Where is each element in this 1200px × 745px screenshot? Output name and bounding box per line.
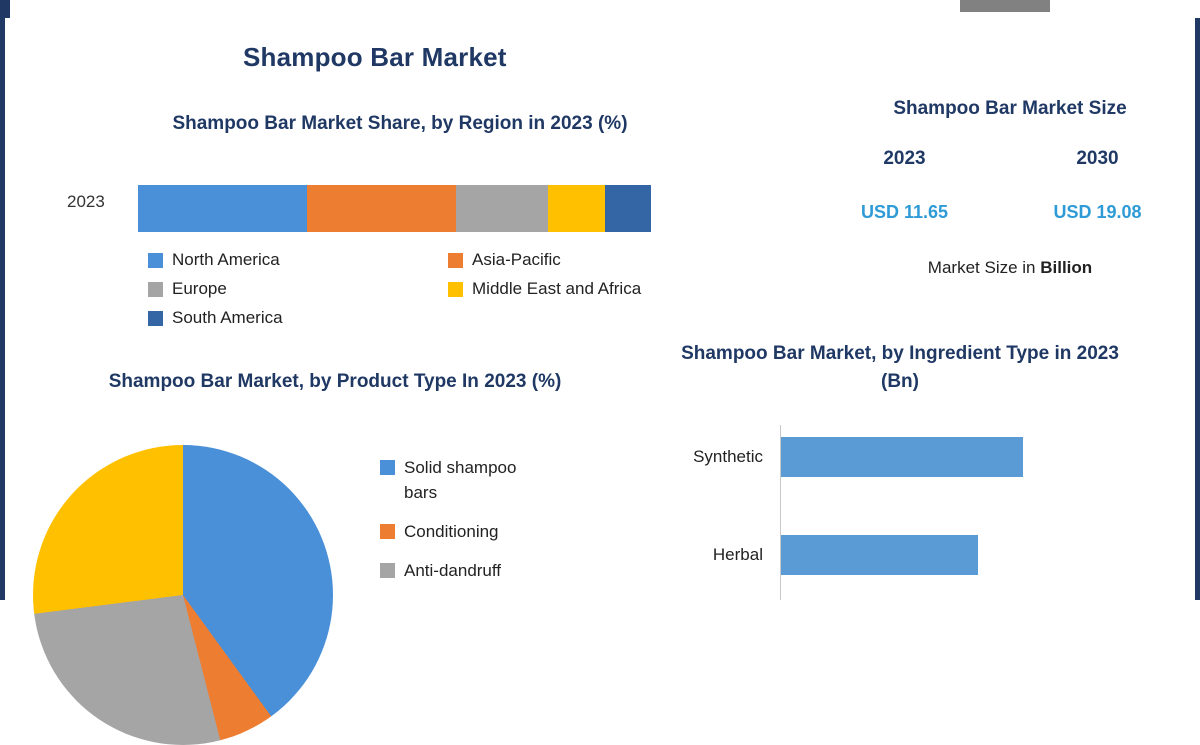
market-size-footnote-prefix: Market Size in	[928, 258, 1040, 277]
legend-swatch-icon	[148, 311, 163, 326]
market-size-year-2023: 2023	[847, 148, 962, 170]
region-legend-item: Middle East and Africa	[448, 279, 708, 299]
region-legend-label: North America	[172, 250, 280, 270]
legend-swatch-icon	[380, 563, 395, 578]
region-segment-asia-pacific	[307, 185, 456, 232]
region-segment-north-america	[138, 185, 307, 232]
region-share-stacked-bar	[138, 185, 651, 232]
market-size-footnote-unit: Billion	[1040, 258, 1092, 277]
market-size-footnote: Market Size in Billion	[845, 258, 1175, 278]
region-segment-europe	[456, 185, 548, 232]
product-type-legend-item: Solid shampoo bars	[380, 455, 680, 505]
infographic-page: Shampoo Bar Market Shampoo Bar Market Sh…	[0, 0, 1200, 600]
ingredient-category-label: Herbal	[665, 545, 773, 565]
region-legend-label: Middle East and Africa	[472, 279, 641, 299]
region-legend-item: North America	[148, 250, 448, 270]
ingredient-type-bar-chart: SyntheticHerbal	[665, 425, 1125, 600]
region-share-legend: North AmericaAsia-PacificEuropeMiddle Ea…	[148, 250, 708, 328]
legend-swatch-icon	[148, 253, 163, 268]
ingredient-bar-row: Synthetic	[665, 437, 1023, 477]
legend-swatch-icon	[448, 253, 463, 268]
legend-swatch-icon	[148, 282, 163, 297]
ingredient-bar	[781, 535, 978, 575]
region-share-axis-label: 2023	[67, 192, 105, 212]
region-segment-middle-east-and-africa	[548, 185, 604, 232]
ingredient-bar-row: Herbal	[665, 535, 978, 575]
product-type-legend-label: Anti-dandruff	[404, 558, 501, 583]
ingredient-type-title: Shampoo Bar Market, by Ingredient Type i…	[665, 340, 1135, 396]
ingredient-category-label: Synthetic	[665, 447, 773, 467]
pie-slices	[33, 445, 333, 745]
region-legend-item: Europe	[148, 279, 448, 299]
page-title: Shampoo Bar Market	[243, 42, 507, 73]
region-legend-item: South America	[148, 308, 448, 328]
left-accent-bar	[5, 0, 10, 18]
legend-swatch-icon	[448, 282, 463, 297]
region-share-title: Shampoo Bar Market Share, by Region in 2…	[140, 110, 660, 138]
region-legend-label: Europe	[172, 279, 227, 299]
region-legend-item: Asia-Pacific	[448, 250, 708, 270]
region-legend-label: South America	[172, 308, 283, 328]
region-legend-label: Asia-Pacific	[472, 250, 561, 270]
market-size-year-2030: 2030	[1040, 148, 1155, 170]
product-type-legend-item: Anti-dandruff	[380, 558, 680, 583]
market-size-value-2023: USD 11.65	[837, 202, 972, 223]
market-size-title: Shampoo Bar Market Size	[835, 98, 1185, 120]
market-size-value-2030: USD 19.08	[1030, 202, 1165, 223]
product-type-legend-label: Conditioning	[404, 519, 499, 544]
region-segment-south-america	[605, 185, 651, 232]
company-logo	[960, 0, 1050, 12]
product-type-legend-item: Conditioning	[380, 519, 680, 544]
ingredient-bar	[781, 437, 1023, 477]
legend-swatch-icon	[380, 524, 395, 539]
legend-swatch-icon	[380, 460, 395, 475]
top-strip	[5, 0, 1200, 18]
product-type-legend-label: Solid shampoo bars	[404, 455, 554, 505]
product-type-legend: Solid shampoo barsConditioningAnti-dandr…	[380, 455, 680, 597]
product-type-pie-chart	[33, 445, 333, 745]
product-type-title: Shampoo Bar Market, by Product Type In 2…	[65, 368, 605, 396]
